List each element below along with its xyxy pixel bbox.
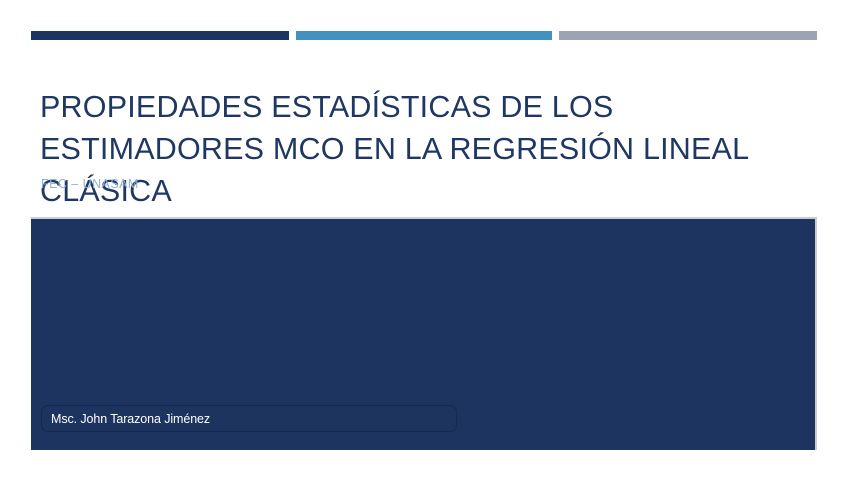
presenter-name-box: Msc. John Tarazona Jiménez (41, 405, 457, 432)
accent-bar-gray (559, 31, 817, 40)
slide-subtitle: FEC – UNASAM (41, 177, 139, 191)
accent-bar-light-blue (296, 31, 552, 40)
presenter-name: Msc. John Tarazona Jiménez (42, 412, 210, 426)
content-panel: Msc. John Tarazona Jiménez (31, 217, 817, 450)
accent-bar-navy (31, 31, 289, 40)
slide-title: PROPIEDADES ESTADÍSTICAS DE LOS ESTIMADO… (40, 86, 815, 212)
presentation-slide: PROPIEDADES ESTADÍSTICAS DE LOS ESTIMADO… (0, 0, 848, 477)
